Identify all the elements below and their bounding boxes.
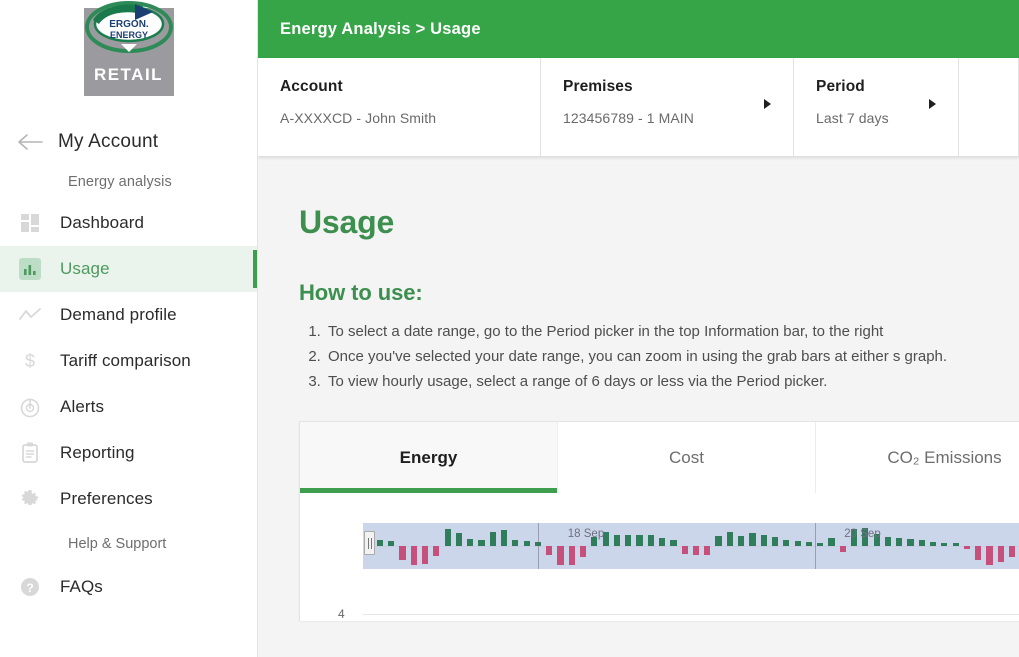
navigator-bar	[659, 538, 665, 546]
navigator-date-divider	[815, 523, 816, 569]
my-account-label: My Account	[58, 131, 158, 153]
bar-chart-icon	[0, 258, 60, 280]
list-item: To select a date range, go to the Period…	[325, 319, 1019, 344]
chevron-right-icon[interactable]	[764, 99, 771, 109]
navigator-baseline	[363, 546, 1019, 547]
navigator-bar	[840, 546, 846, 552]
clipboard-icon	[0, 442, 60, 464]
app-root: ERGON. ENERGY RETAIL My Account Energy a…	[0, 0, 1019, 657]
navigator-bar	[399, 546, 405, 560]
navigator-bar	[998, 546, 1004, 562]
sidebar-item-label: Usage	[60, 259, 110, 279]
sidebar-item-preferences[interactable]: Preferences	[0, 476, 257, 522]
navigator-bar	[670, 540, 676, 546]
page-title: Usage	[299, 157, 1019, 241]
navigator-bar	[907, 539, 913, 546]
navigator-bar	[727, 532, 733, 546]
account-picker-value: A-XXXXCD - John Smith	[280, 110, 540, 126]
navigator-bar	[456, 533, 462, 546]
left-grab-handle[interactable]	[364, 531, 375, 555]
premises-picker-value: 123456789 - 1 MAIN	[563, 110, 793, 126]
tab-label: Cost	[669, 448, 704, 468]
navigator-bar	[986, 546, 992, 565]
sidebar-item-label: Tariff comparison	[60, 351, 191, 371]
chart-axis-area: 4	[300, 581, 1019, 622]
usage-chart-card: Energy Cost CO₂ Emissions 18 Sep20 Sep	[299, 421, 1019, 621]
navigator-bar	[614, 535, 620, 546]
page-content: Usage How to use: To select a date range…	[258, 157, 1019, 657]
tab-energy[interactable]: Energy	[300, 422, 558, 493]
navigator-bar	[772, 537, 778, 546]
navigator-bar	[749, 533, 755, 546]
navigator-bar	[501, 530, 507, 546]
dashboard-grid-icon	[0, 213, 60, 233]
tab-co2-emissions[interactable]: CO₂ Emissions	[816, 422, 1019, 493]
navigator-date-divider	[538, 523, 539, 569]
navigator-bar	[557, 546, 563, 565]
navigator-bar	[964, 546, 970, 549]
gridline	[363, 614, 1019, 615]
how-to-use-heading: How to use:	[299, 280, 1019, 306]
svg-text:ENERGY: ENERGY	[109, 30, 147, 40]
navigator-bar	[636, 535, 642, 546]
navigator-bar	[478, 540, 484, 546]
svg-text:?: ?	[26, 581, 33, 595]
tab-cost[interactable]: Cost	[558, 422, 816, 493]
tab-label: CO₂ Emissions	[887, 448, 1001, 468]
navigator-bar	[625, 535, 631, 546]
navigator-bar	[648, 535, 654, 546]
my-account-header[interactable]: My Account	[0, 120, 257, 164]
account-picker-label: Account	[280, 78, 540, 96]
navigator-bar	[885, 537, 891, 546]
navigator-bar	[806, 542, 812, 546]
navigator-bar	[704, 546, 710, 555]
navigator-bar	[761, 535, 767, 546]
sidebar-item-alerts[interactable]: Alerts	[0, 384, 257, 430]
sidebar-item-label: Alerts	[60, 397, 104, 417]
period-picker[interactable]: Period Last 7 days	[794, 58, 959, 156]
navigator-bar	[512, 540, 518, 546]
question-circle-icon: ?	[0, 576, 60, 598]
navigator-bar	[467, 539, 473, 546]
navigator-bar	[490, 532, 496, 546]
sidebar-item-demand-profile[interactable]: Demand profile	[0, 292, 257, 338]
back-arrow-icon[interactable]	[8, 133, 52, 151]
navigator-bar	[580, 546, 586, 557]
navigator-bar	[422, 546, 428, 564]
brand-logo[interactable]: ERGON. ENERGY RETAIL	[0, 0, 257, 96]
navigator-bar	[919, 540, 925, 546]
line-chart-icon	[0, 307, 60, 323]
logo-retail-label: RETAIL	[94, 65, 163, 85]
y-axis-tick-label: 4	[338, 607, 345, 621]
navigator-bar	[433, 546, 439, 556]
navigator-bar	[817, 543, 823, 546]
gear-icon	[0, 488, 60, 510]
sidebar-section-energy-analysis: Energy analysis	[0, 164, 257, 200]
tab-label: Energy	[400, 448, 458, 468]
navigator-bar	[975, 546, 981, 560]
sidebar-item-label: Reporting	[60, 443, 135, 463]
info-extra-cell	[959, 58, 1019, 156]
period-picker-label: Period	[816, 78, 958, 96]
navigator-bar	[693, 546, 699, 555]
navigator-bar	[783, 540, 789, 546]
chart-range-navigator[interactable]: 18 Sep20 Sep	[363, 523, 1019, 569]
sidebar: ERGON. ENERGY RETAIL My Account Energy a…	[0, 0, 258, 657]
navigator-bar	[377, 540, 383, 546]
sidebar-item-label: Dashboard	[60, 213, 144, 233]
navigator-bar	[546, 546, 552, 555]
navigator-bar	[828, 538, 834, 546]
sidebar-item-label: FAQs	[60, 577, 103, 597]
premises-picker-label: Premises	[563, 78, 793, 96]
navigator-bar	[715, 536, 721, 546]
navigator-bar	[941, 543, 947, 546]
navigator-bar	[411, 546, 417, 565]
navigator-bar	[388, 541, 394, 546]
main-area: Energy Analysis > Usage Account A-XXXXCD…	[258, 0, 1019, 657]
ergon-energy-logo-icon: ERGON. ENERGY	[83, 0, 175, 58]
navigator-bar	[1009, 546, 1015, 557]
navigator-bar	[896, 538, 902, 546]
premises-picker[interactable]: Premises 123456789 - 1 MAIN	[541, 58, 794, 156]
sidebar-item-tariff-comparison[interactable]: $ Tariff comparison	[0, 338, 257, 384]
svg-text:ERGON.: ERGON.	[109, 19, 149, 30]
chart-tabs: Energy Cost CO₂ Emissions	[300, 422, 1019, 493]
dollar-icon: $	[0, 350, 60, 372]
period-picker-value: Last 7 days	[816, 110, 958, 126]
chevron-right-icon[interactable]	[929, 99, 936, 109]
navigator-bar	[738, 536, 744, 546]
alert-target-icon	[0, 396, 60, 418]
sidebar-section-help-support: Help & Support	[0, 522, 257, 564]
sidebar-item-dashboard[interactable]: Dashboard	[0, 200, 257, 246]
information-bar: Account A-XXXXCD - John Smith Premises 1…	[258, 58, 1019, 157]
navigator-bar	[795, 541, 801, 546]
list-item: To view hourly usage, select a range of …	[325, 369, 1019, 394]
sidebar-item-label: Demand profile	[60, 305, 177, 325]
navigator-bar	[682, 546, 688, 554]
svg-text:$: $	[25, 351, 35, 371]
navigator-bar	[930, 542, 936, 546]
breadcrumb: Energy Analysis > Usage	[280, 20, 481, 39]
sidebar-item-faqs[interactable]: ? FAQs	[0, 564, 257, 610]
account-picker[interactable]: Account A-XXXXCD - John Smith	[258, 58, 541, 156]
navigator-date-label: 18 Sep	[568, 528, 604, 540]
navigator-bar	[445, 529, 451, 546]
navigator-bar	[524, 541, 530, 546]
sidebar-item-reporting[interactable]: Reporting	[0, 430, 257, 476]
navigator-bar	[569, 546, 575, 565]
list-item: Once you've selected your date range, yo…	[325, 344, 1019, 369]
how-to-use-list: To select a date range, go to the Period…	[299, 319, 1019, 394]
sidebar-item-usage[interactable]: Usage	[0, 246, 257, 292]
sidebar-item-label: Preferences	[60, 489, 153, 509]
navigator-bar	[953, 543, 959, 546]
navigator-date-label: 20 Sep	[844, 528, 880, 540]
top-breadcrumb-bar: Energy Analysis > Usage	[258, 0, 1019, 58]
